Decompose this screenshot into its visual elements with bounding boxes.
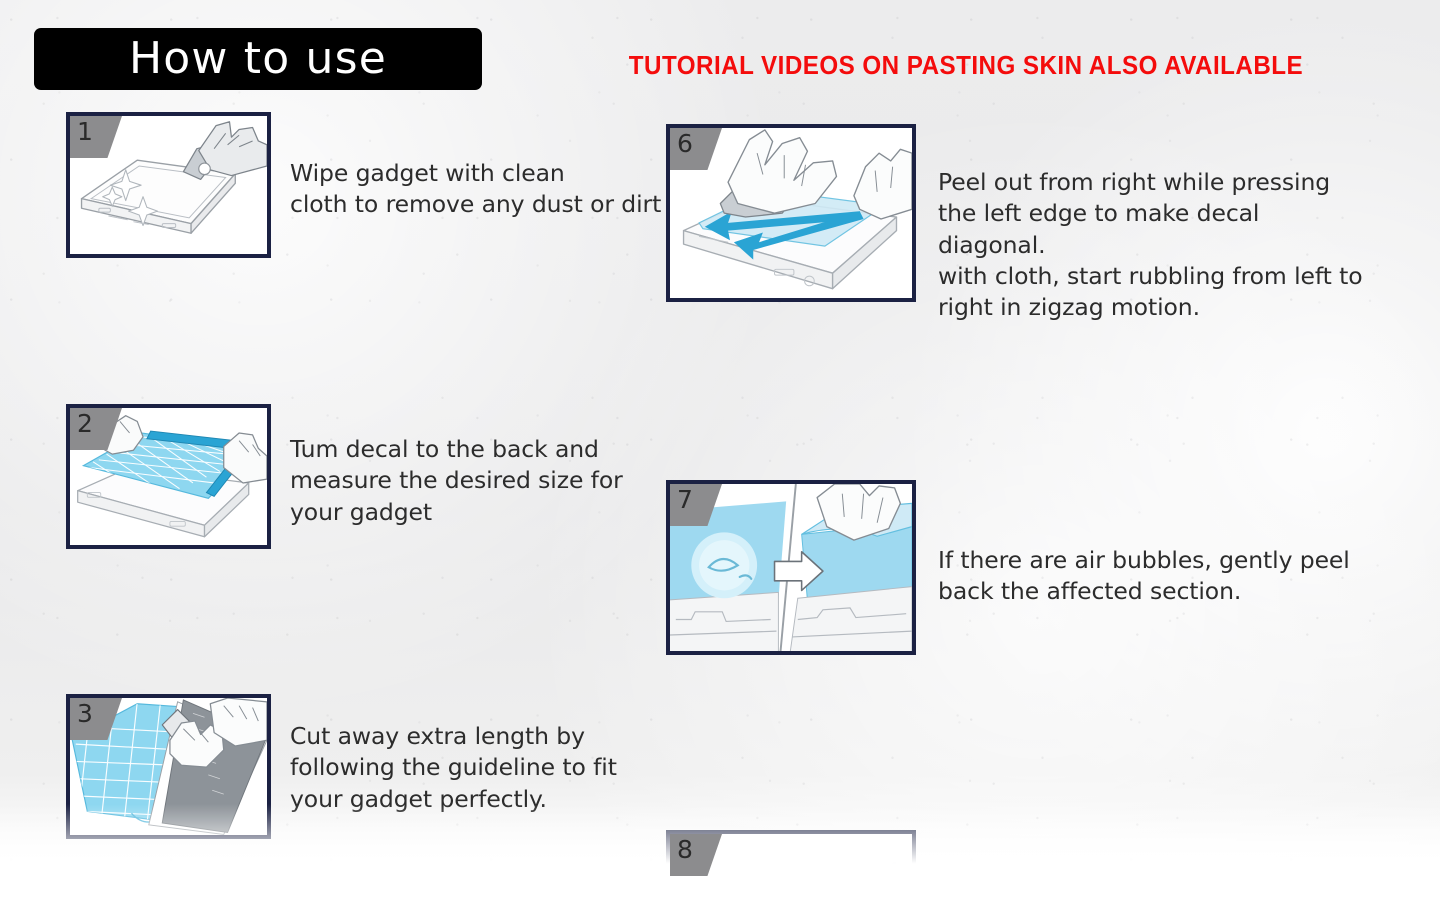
- step-row-4: 4 Peel decal slowly from edge while hold…: [66, 548, 646, 688]
- step-row-8: 8 Rub towards the edges again. Repeat st…: [666, 477, 1366, 652]
- step-row-1: 1 Wipe gadget with clean cloth to remove…: [66, 112, 646, 258]
- step-number-2: 2: [77, 410, 93, 438]
- step-row-3: 3 Cut away extra length by following the…: [66, 403, 646, 548]
- steps-column-left: 1 Wipe gadget with clean cloth to remove…: [66, 112, 646, 833]
- step-row-9: 9 Leave for 30 minutes for decal to bond…: [666, 652, 1366, 827]
- step-illustration-panel-8: 8: [666, 830, 916, 900]
- step-row-2: 2 Tum decal to the back and measure the …: [66, 258, 646, 403]
- step-caption-8: Rub towards the edges again. Repeat step…: [938, 883, 1368, 900]
- step-illustration-panel-6: 6: [666, 124, 916, 302]
- step-row-7: 7 If there are air bubbles, gently peel …: [666, 302, 1366, 477]
- page-title: How to use: [129, 37, 387, 81]
- step-row-5: 5 Align centre of decal with gadget and …: [66, 688, 646, 833]
- step-number-1: 1: [77, 118, 93, 146]
- steps-column-right: 6 Peel out from right while pressing the…: [666, 124, 1366, 827]
- step-number-6: 6: [677, 130, 693, 158]
- how-to-use-poster: How to use TUTORIAL VIDEOS ON PASTING SK…: [0, 0, 1440, 900]
- step-number-8: 8: [677, 836, 693, 864]
- step-caption-1: Wipe gadget with clean cloth to remove a…: [290, 158, 670, 221]
- promo-banner-text: TUTORIAL VIDEOS ON PASTING SKIN ALSO AVA…: [580, 50, 1352, 81]
- step-illustration-panel-1: 1: [66, 112, 271, 258]
- step-row-6: 6 Peel out from right while pressing the…: [666, 124, 1366, 302]
- step-caption-6: Peel out from right while pressing the l…: [938, 167, 1368, 323]
- step-number-3: 3: [77, 700, 93, 728]
- page-title-banner: How to use: [34, 28, 482, 90]
- step-number-7: 7: [677, 486, 693, 514]
